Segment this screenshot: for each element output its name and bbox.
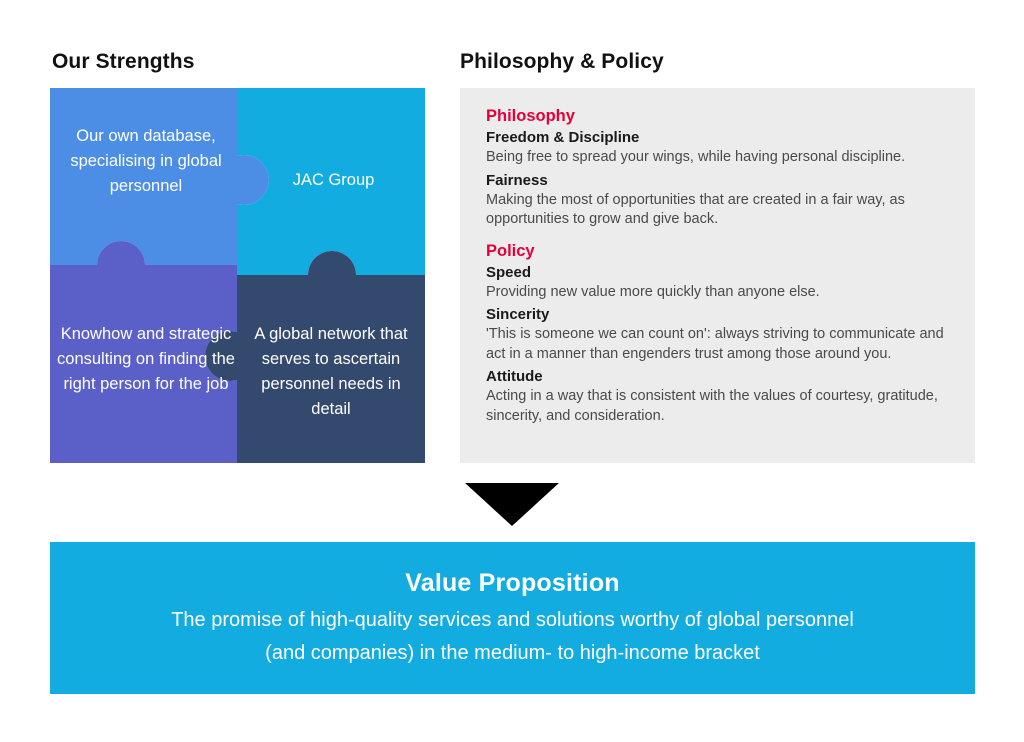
policy-group-title: Policy	[486, 241, 951, 262]
policy-item-sincerity-desc: 'This is someone we can count on': alway…	[486, 325, 951, 364]
strengths-puzzle: Our own database, specialising in global…	[50, 88, 425, 463]
value-proposition-line-2: (and companies) in the medium- to high-i…	[50, 637, 975, 670]
policy-group: Policy Speed Providing new value more qu…	[486, 241, 951, 427]
philosophy-policy-heading: Philosophy & Policy	[460, 50, 664, 74]
philosophy-item-freedom-discipline-name: Freedom & Discipline	[486, 128, 951, 148]
value-proposition-banner: Value Proposition The promise of high-qu…	[50, 542, 975, 694]
puzzle-piece-network[interactable]	[205, 251, 425, 463]
philosophy-item-fairness-name: Fairness	[486, 171, 951, 191]
policy-item-sincerity-name: Sincerity	[486, 305, 951, 325]
policy-item-speed-name: Speed	[486, 263, 951, 283]
philosophy-policy-panel: Philosophy Freedom & Discipline Being fr…	[460, 88, 975, 463]
value-proposition-title: Value Proposition	[50, 567, 975, 599]
policy-item-attitude-desc: Acting in a way that is consistent with …	[486, 387, 951, 426]
policy-item-attitude-name: Attitude	[486, 367, 951, 387]
philosophy-item-freedom-discipline-desc: Being free to spread your wings, while h…	[486, 148, 951, 168]
policy-item-speed-desc: Providing new value more quickly than an…	[486, 283, 951, 303]
strengths-heading: Our Strengths	[52, 50, 194, 74]
value-proposition-line-1: The promise of high-quality services and…	[50, 604, 975, 637]
puzzle-svg	[50, 88, 425, 463]
puzzle-piece-database[interactable]	[50, 88, 269, 265]
philosophy-item-fairness-desc: Making the most of opportunities that ar…	[486, 191, 951, 230]
triangle-down-icon	[465, 483, 559, 526]
philosophy-group-title: Philosophy	[486, 106, 951, 127]
philosophy-group: Philosophy Freedom & Discipline Being fr…	[486, 106, 951, 230]
